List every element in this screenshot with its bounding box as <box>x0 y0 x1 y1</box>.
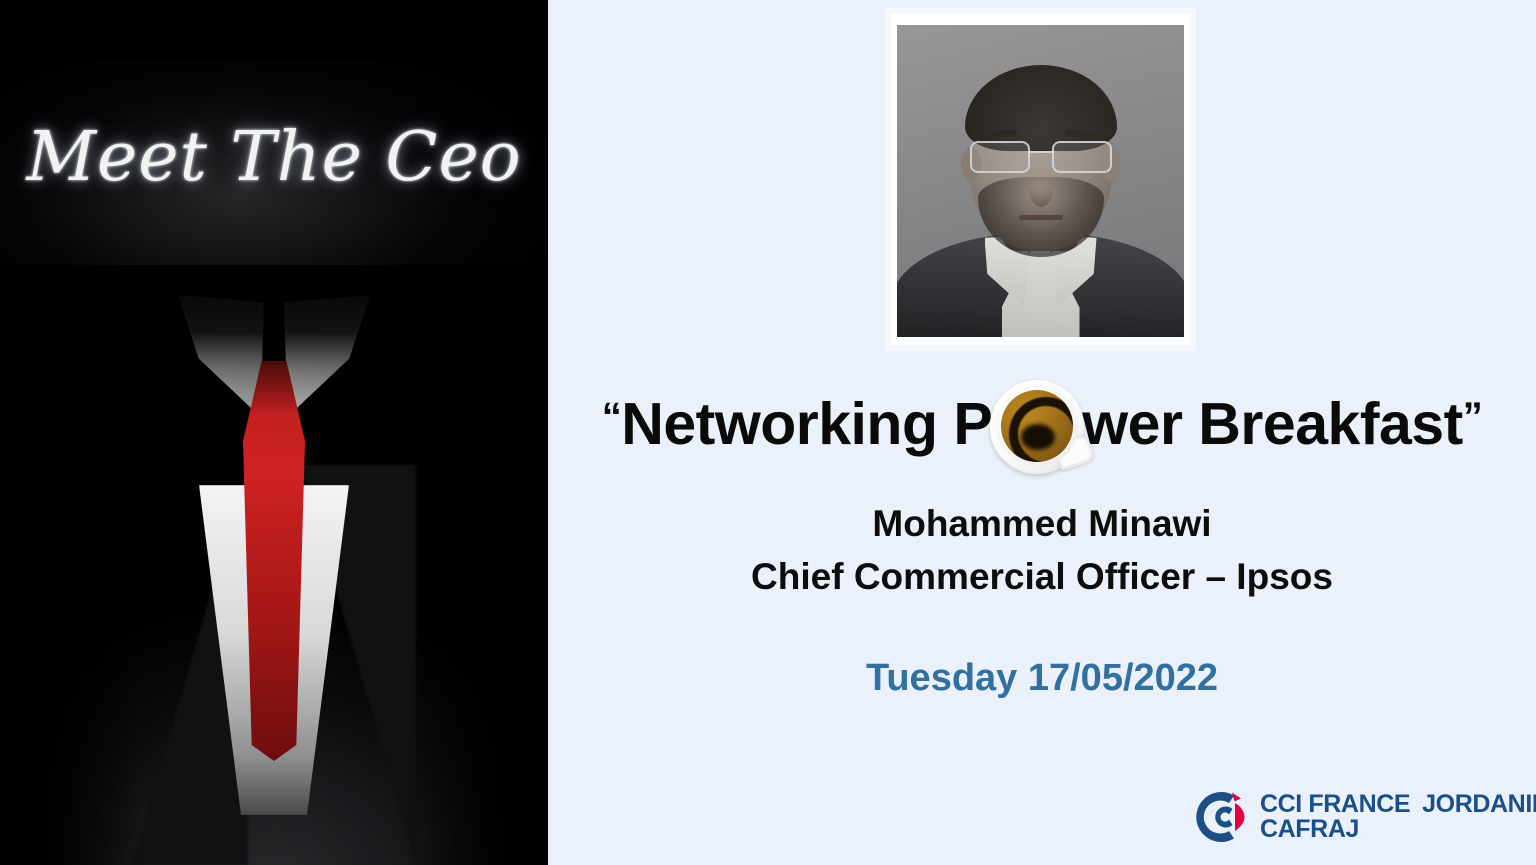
cci-france-jordanie-logo: CCI FRANCEJORDANIE CAFRAJ <box>1188 786 1536 848</box>
cci-logo-text: CCI FRANCEJORDANIE CAFRAJ <box>1260 792 1536 843</box>
speaker-block: Mohammed Minawi Chief Commercial Officer… <box>548 498 1536 603</box>
coffee-swirl-inner <box>1021 424 1055 450</box>
presentation-slide: Meet The Ceo <box>0 0 1536 865</box>
coffee-crema <box>1001 390 1073 462</box>
speaker-name: Mohammed Minawi <box>548 498 1536 551</box>
photo-grading-overlay <box>897 25 1184 337</box>
speaker-role: Chief Commercial Officer – Ipsos <box>548 551 1536 604</box>
event-title-part-1: Networking P <box>621 391 992 457</box>
left-image-panel: Meet The Ceo <box>0 0 548 865</box>
coffee-cup-icon <box>988 378 1086 476</box>
anonymous-businessman-image <box>0 265 548 865</box>
meet-the-ceo-title: Meet The Ceo <box>0 118 548 197</box>
right-content-panel: “Networking P wer Breakfast” Mohammed Mi… <box>548 0 1536 865</box>
cci-logo-mark-icon <box>1188 786 1250 848</box>
open-quote: “ <box>602 395 622 439</box>
cci-logo-line1-a: CCI FRANCE <box>1260 790 1410 818</box>
cci-logo-line1-b: JORDANIE <box>1422 790 1536 818</box>
speaker-photo-frame <box>891 14 1190 345</box>
event-title-part-2: wer Breakfast <box>1082 391 1463 457</box>
event-title: “Networking P wer Breakfast” <box>548 378 1536 476</box>
shadow-overlay-sides <box>0 265 548 865</box>
close-quote: ” <box>1463 395 1483 439</box>
event-date: Tuesday 17/05/2022 <box>548 657 1536 700</box>
speaker-portrait-photo <box>897 25 1184 337</box>
cci-logo-line2: CAFRAJ <box>1260 817 1536 843</box>
